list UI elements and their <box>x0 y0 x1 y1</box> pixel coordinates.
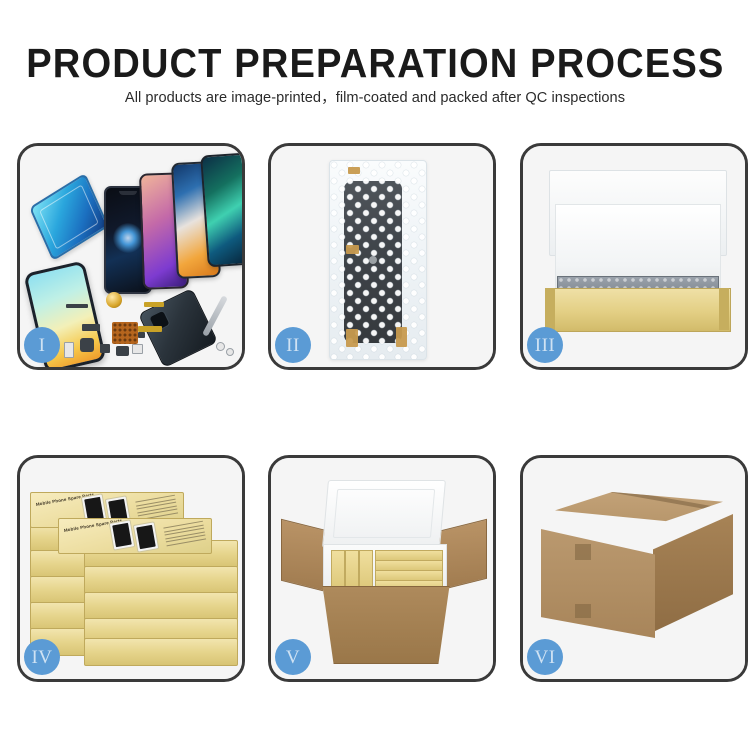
small-chip-icon <box>100 344 110 353</box>
process-step-panel-1: I <box>17 143 245 370</box>
vibrator-icon <box>116 346 129 356</box>
step-badge-6: VI <box>527 639 563 675</box>
carton-body-icon <box>317 586 455 664</box>
button-part-icon <box>132 344 143 354</box>
page-subtitle: All products are image-printed，film-coat… <box>0 88 750 108</box>
box-side-right-icon <box>719 288 729 330</box>
box-spec-lines-icon <box>163 521 206 550</box>
connector-icon <box>82 324 100 331</box>
screw-icon <box>138 332 145 338</box>
carton-seam-icon <box>600 486 721 511</box>
sealed-carton-icon <box>541 492 733 648</box>
carton-front-face-icon <box>541 522 655 638</box>
screw-3-icon <box>226 348 234 356</box>
inner-box-icon <box>359 550 373 590</box>
step-badge-5: V <box>275 639 311 675</box>
screw-2-icon <box>216 342 225 351</box>
foam-lid-icon <box>322 480 446 548</box>
flex-cable-icon <box>144 302 164 307</box>
carton-tab-lower-icon <box>575 604 591 618</box>
speaker-part-icon <box>106 292 122 308</box>
camera-module-icon <box>80 338 94 352</box>
box-window-4-icon <box>133 521 160 552</box>
top-box-front-icon: Mobile Phone Spare Parts <box>58 518 212 554</box>
box-window-3-icon <box>109 519 136 550</box>
stacked-box-icon <box>84 592 238 620</box>
tape-piece-4-icon <box>396 327 407 347</box>
process-step-panel-3: III <box>520 143 748 370</box>
step-badge-4: IV <box>24 639 60 675</box>
sim-tray-icon <box>64 342 74 358</box>
page-title: PRODUCT PREPARATION PROCESS <box>26 39 724 87</box>
process-step-panel-2: II <box>268 143 496 370</box>
tape-piece-1-icon <box>348 167 360 174</box>
stacked-box-icon <box>84 638 238 666</box>
logic-board-icon <box>112 322 138 344</box>
bubble-texture-icon <box>330 161 426 359</box>
box-stack-icon: Mobile Phone Spare Parts Mobile Phone Sp… <box>28 480 240 664</box>
process-step-panel-6: VI <box>520 455 748 682</box>
screen-protector-film-icon <box>29 173 109 261</box>
earpiece-mesh-icon <box>66 304 88 308</box>
process-step-grid: I II <box>17 143 745 680</box>
box-side-left-icon <box>545 288 555 330</box>
step-badge-3: III <box>527 327 563 363</box>
carton-tab-upper-icon <box>575 544 591 560</box>
process-step-panel-4: Mobile Phone Spare Parts Mobile Phone Sp… <box>17 455 245 682</box>
teal-phone-icon <box>200 153 242 268</box>
carton-side-face-icon <box>653 514 733 632</box>
tape-piece-2-icon <box>346 245 359 254</box>
inner-box-icon <box>345 550 359 590</box>
process-step-panel-5: V <box>268 455 496 682</box>
product-preparation-process-infographic: PRODUCT PREPARATION PROCESS All products… <box>0 0 750 750</box>
phone-notch-icon <box>119 191 137 195</box>
inner-box-icon <box>331 550 345 590</box>
yellow-box-body-icon <box>545 288 731 332</box>
tape-piece-3-icon <box>346 329 358 347</box>
step-badge-2: II <box>275 327 311 363</box>
stacked-box-icon <box>84 566 238 594</box>
bubble-wrap-bag-icon <box>329 160 427 360</box>
step-badge-1: I <box>24 327 60 363</box>
